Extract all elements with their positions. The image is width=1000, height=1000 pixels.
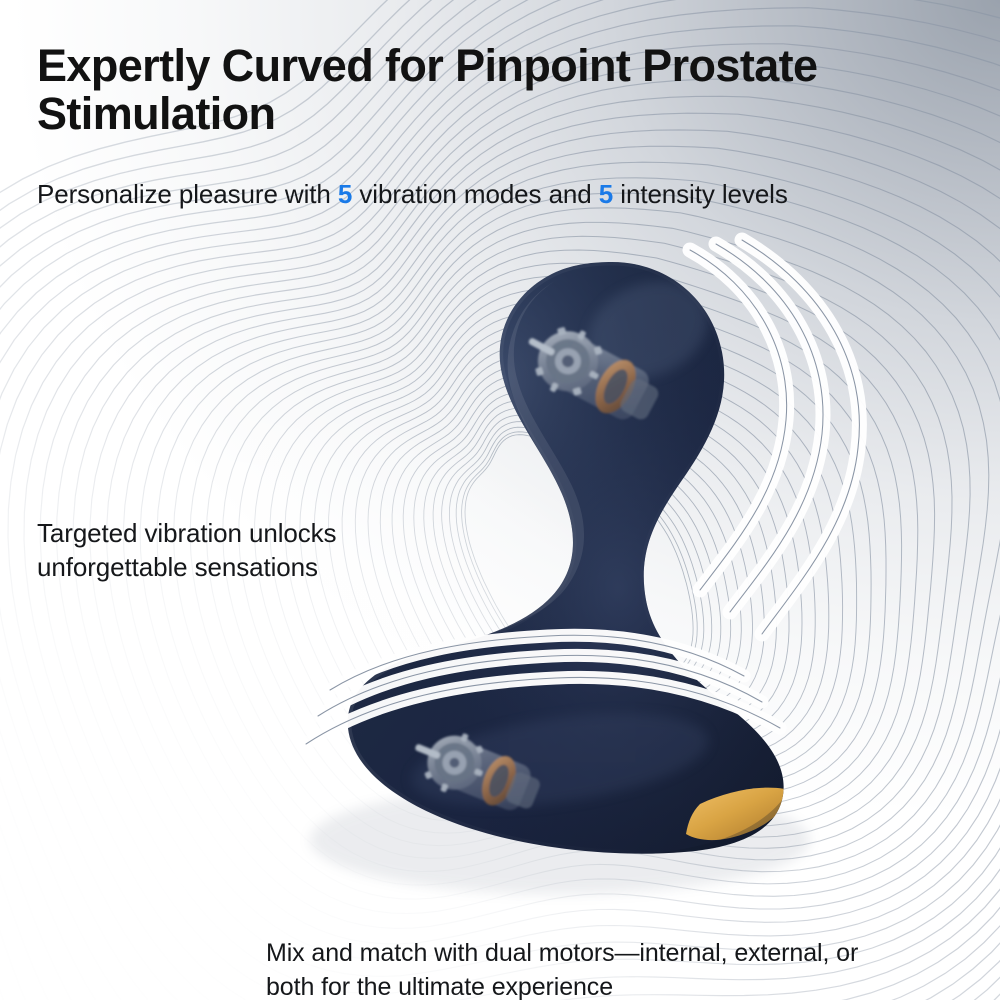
vibration-modes-count: 5: [338, 179, 352, 209]
headline-line-1: Expertly Curved for Pinpoint Prostate: [37, 42, 917, 90]
intensity-levels-count: 5: [599, 179, 613, 209]
subheading-part-1: Personalize pleasure with: [37, 179, 338, 209]
subheading-part-2: vibration modes and: [352, 179, 599, 209]
caption-bottom-line-1: Mix and match with dual motors—internal,…: [266, 937, 966, 971]
subheading: Personalize pleasure with 5 vibration mo…: [37, 178, 967, 211]
product-feature-panel: Expertly Curved for Pinpoint Prostate St…: [0, 0, 1000, 1000]
subheading-part-3: intensity levels: [613, 179, 788, 209]
caption-left-line-1: Targeted vibration unlocks: [37, 516, 467, 550]
product-image-prostate-massager: [0, 0, 1000, 1000]
caption-left-line-2: unforgettable sensations: [37, 550, 467, 584]
headline-line-2: Stimulation: [37, 90, 917, 138]
page-title: Expertly Curved for Pinpoint Prostate St…: [37, 42, 917, 138]
caption-bottom-line-2: both for the ultimate experience: [266, 971, 966, 1000]
caption-targeted-vibration: Targeted vibration unlocks unforgettable…: [37, 516, 467, 585]
caption-dual-motors: Mix and match with dual motors—internal,…: [266, 937, 966, 1000]
